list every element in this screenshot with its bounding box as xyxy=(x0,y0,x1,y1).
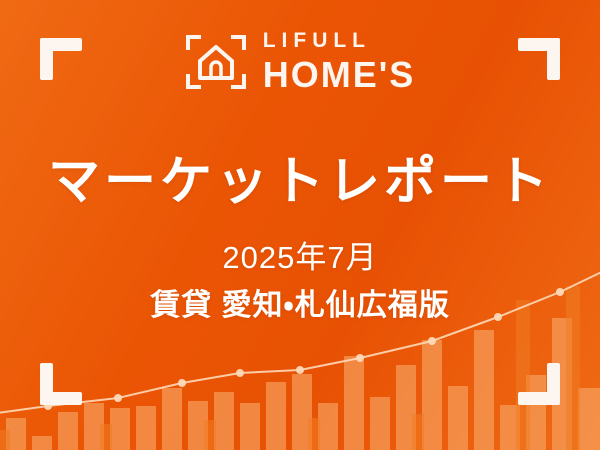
house-door xyxy=(211,62,221,78)
logo-text-homes: HOME'S xyxy=(263,57,416,93)
report-edition: 賃貸 愛知・札仙広福版 xyxy=(0,288,600,324)
bracket-arm-vertical xyxy=(40,363,53,405)
logo-wordmark: LIFULL HOME'S xyxy=(263,30,416,93)
house-in-frame-icon xyxy=(185,32,247,92)
lifull-homes-logo: LIFULL HOME'S xyxy=(0,30,600,93)
bracket-arm-vertical xyxy=(547,363,560,405)
market-report-poster: LIFULL HOME'S マーケットレポート 2025年7月 賃貸 愛知・札仙… xyxy=(0,0,600,450)
headline-block: マーケットレポート 2025年7月 賃貸 愛知・札仙広福版 xyxy=(0,152,600,324)
decorative-bar-series xyxy=(6,318,600,450)
corner-bracket-bottom-left xyxy=(40,363,82,405)
report-date: 2025年7月 xyxy=(0,239,600,276)
corner-bracket-bottom-right xyxy=(518,363,560,405)
report-title: マーケットレポート xyxy=(0,152,600,213)
logo-text-lifull: LIFULL xyxy=(263,30,416,51)
